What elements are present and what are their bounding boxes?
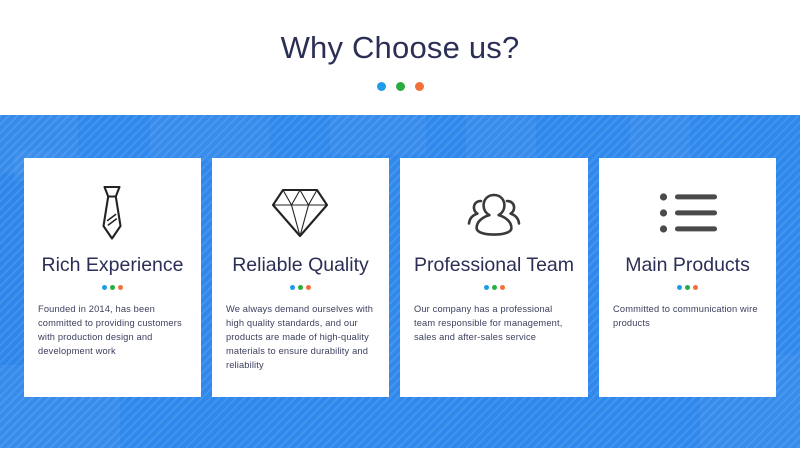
- bullet-list-icon: [659, 180, 717, 246]
- dot-green-icon: [685, 285, 690, 290]
- dot-green-icon: [492, 285, 497, 290]
- dot-green-icon: [396, 82, 405, 91]
- card-accent-dots: [484, 285, 505, 290]
- card-title: Rich Experience: [42, 252, 184, 278]
- feature-card-rich-experience[interactable]: Rich Experience Founded in 2014, has bee…: [24, 158, 201, 397]
- feature-card-main-products[interactable]: Main Products Committed to communication…: [599, 158, 776, 397]
- header: Why Choose us?: [0, 0, 800, 115]
- card-title: Professional Team: [414, 252, 574, 278]
- dot-blue-icon: [290, 285, 295, 290]
- card-accent-dots: [290, 285, 311, 290]
- card-title: Main Products: [625, 252, 750, 278]
- card-body-text: Our company has a professional team resp…: [414, 302, 574, 344]
- diamond-icon: [271, 180, 329, 246]
- necktie-icon: [92, 180, 132, 246]
- card-body-text: We always demand ourselves with high qua…: [226, 302, 375, 372]
- page-title: Why Choose us?: [281, 28, 520, 68]
- dot-orange-icon: [118, 285, 123, 290]
- dot-blue-icon: [484, 285, 489, 290]
- card-title: Reliable Quality: [232, 252, 369, 278]
- card-accent-dots: [677, 285, 698, 290]
- people-group-icon: [464, 180, 524, 246]
- dot-blue-icon: [377, 82, 386, 91]
- feature-cards-row: Rich Experience Founded in 2014, has bee…: [24, 158, 776, 397]
- header-accent-dots: [377, 82, 424, 91]
- dot-blue-icon: [677, 285, 682, 290]
- card-body-text: Founded in 2014, has been committed to p…: [38, 302, 187, 358]
- dot-orange-icon: [306, 285, 311, 290]
- feature-card-professional-team[interactable]: Professional Team Our company has a prof…: [400, 158, 588, 397]
- dot-blue-icon: [102, 285, 107, 290]
- card-body-text: Committed to communication wire products: [613, 302, 762, 330]
- card-accent-dots: [102, 285, 123, 290]
- feature-card-reliable-quality[interactable]: Reliable Quality We always demand oursel…: [212, 158, 389, 397]
- dot-orange-icon: [500, 285, 505, 290]
- slide-root: Why Choose us?: [0, 0, 800, 476]
- dot-green-icon: [110, 285, 115, 290]
- dot-orange-icon: [415, 82, 424, 91]
- dot-green-icon: [298, 285, 303, 290]
- dot-orange-icon: [693, 285, 698, 290]
